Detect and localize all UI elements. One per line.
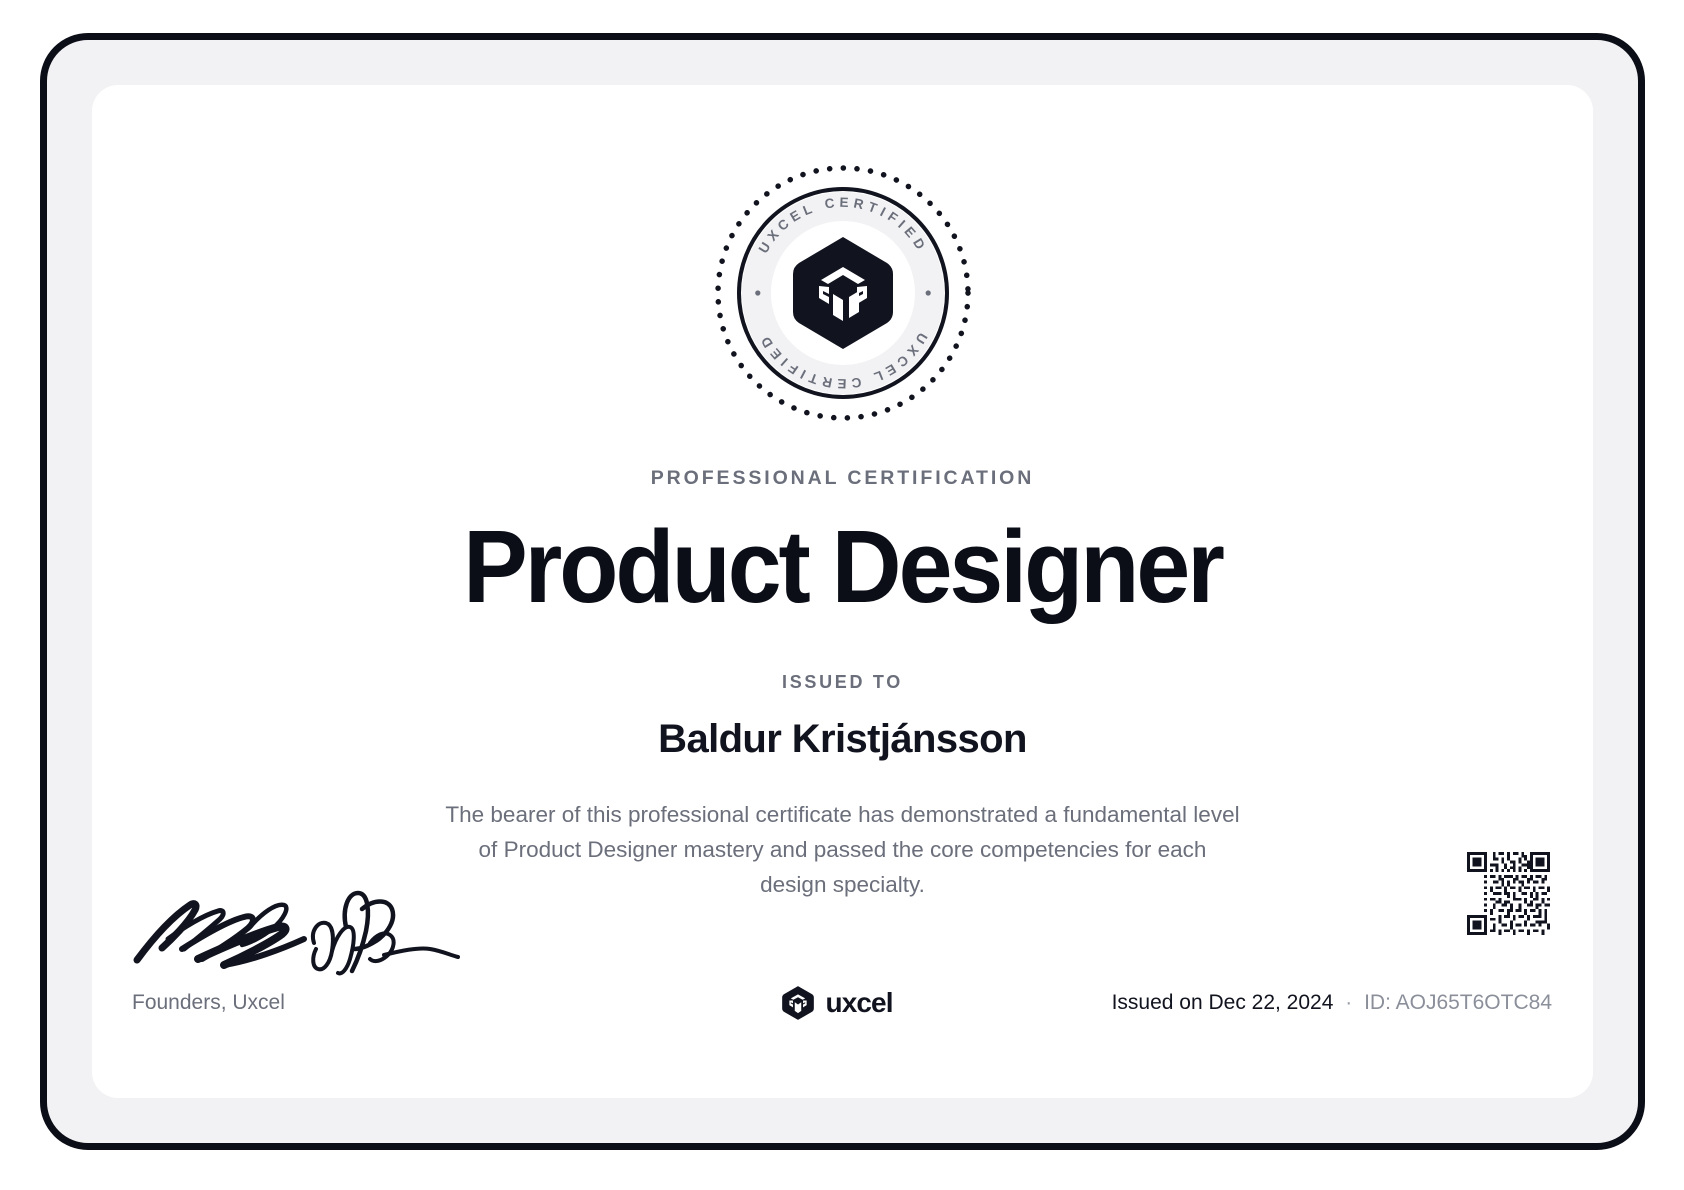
qr-code-icon[interactable] [1467, 852, 1550, 935]
signature-caption: Founders, Uxcel [132, 991, 285, 1015]
certificate-title: Product Designer [137, 508, 1548, 626]
recipient-name: Baldur Kristjánsson [92, 713, 1593, 765]
signature-icon [132, 865, 462, 985]
issue-meta: Issued on Dec 22, 2024 · ID: AOJ65T6OTC8… [1112, 991, 1552, 1015]
certificate-frame: UXCEL CERTIFIED UXCEL CERTIFIED [40, 33, 1645, 1150]
kicker-label: PROFESSIONAL CERTIFICATION [92, 467, 1593, 490]
uxcel-cube-icon [780, 985, 816, 1021]
issued-on-date: Issued on Dec 22, 2024 [1112, 991, 1334, 1014]
issued-to-label: ISSUED TO [92, 672, 1593, 693]
meta-separator: · [1339, 991, 1358, 1014]
certification-seal: UXCEL CERTIFIED UXCEL CERTIFIED [712, 162, 974, 424]
certificate-panel: UXCEL CERTIFIED UXCEL CERTIFIED [92, 85, 1593, 1098]
brand-logo: uxcel [780, 985, 893, 1021]
certificate-id: ID: AOJ65T6OTC84 [1364, 991, 1552, 1014]
certificate-description: The bearer of this professional certific… [443, 797, 1243, 902]
brand-wordmark: uxcel [826, 987, 893, 1019]
